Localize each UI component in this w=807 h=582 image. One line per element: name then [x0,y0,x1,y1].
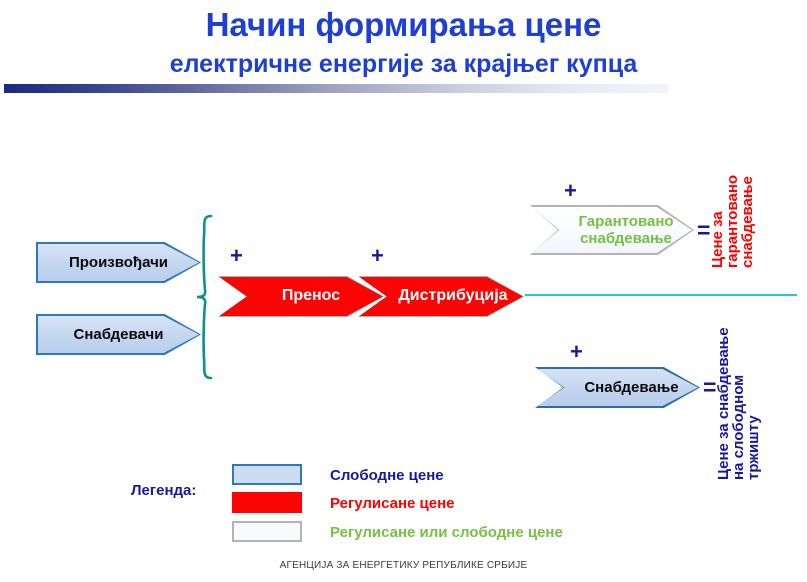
source-box-suppliers-fill [38,316,199,353]
result-market-price-line1: Цене за снабдевање [716,332,731,480]
result-market-price-line3: тржишту [746,332,761,480]
legend-label-regulated-or-free-prices: Регулисане или слободне цене [330,524,563,541]
plus-sign-distribution: + [371,245,384,267]
chevron-guaranteed-supply-fill [532,207,692,253]
page-subtitle: електричне енергије за крајњег купца [0,50,807,79]
chevron-market-supply-fill [537,369,698,406]
result-guaranteed-price: Цене за гарантовано снабдевање [710,148,755,268]
source-box-producers-fill [38,244,199,281]
result-market-price: Цене за снабдевање на слободном тржишту [716,332,761,480]
title-gradient-rule [4,84,670,93]
plus-sign-transmission: + [230,245,243,267]
legend-swatch-free-prices [232,464,302,485]
legend-label-free-prices: Слободне цене [330,467,444,484]
legend-swatch-regulated-or-free-prices [232,521,302,542]
legend-label-regulated-prices: Регулисане цене [330,495,455,512]
source-box-suppliers[interactable]: Снабдевачи [36,314,201,355]
plus-sign-market: + [570,341,583,363]
page-title: Начин формирања цене [0,6,807,44]
result-guaranteed-price-line2: гарантовано [725,148,740,268]
result-guaranteed-price-line3: снабдевање [740,148,755,268]
grouping-brace [192,214,220,385]
connector-line [525,294,797,296]
chevron-transmission[interactable]: Пренос [218,276,384,317]
chevron-transmission-fill [219,277,383,316]
result-market-price-line2: на слободном [731,332,746,480]
chevron-market-supply[interactable]: Снабдевање [535,367,700,408]
chevron-guaranteed-supply[interactable]: Гарантовано снабдевање [530,205,694,255]
footer-organization: АГЕНЦИЈА ЗА ЕНЕРГЕТИКУ РЕПУБЛИКЕ СРБИЈЕ [0,560,807,571]
source-box-producers[interactable]: Произвођачи [36,242,201,283]
legend-title: Легенда: [131,482,196,499]
legend-swatch-regulated-prices [232,492,302,513]
slide-canvas: Начин формирања цене електричне енергије… [0,0,807,582]
plus-sign-guaranteed: + [564,180,577,202]
title-rule-tail [668,84,803,93]
result-guaranteed-price-line1: Цене за [710,148,725,268]
